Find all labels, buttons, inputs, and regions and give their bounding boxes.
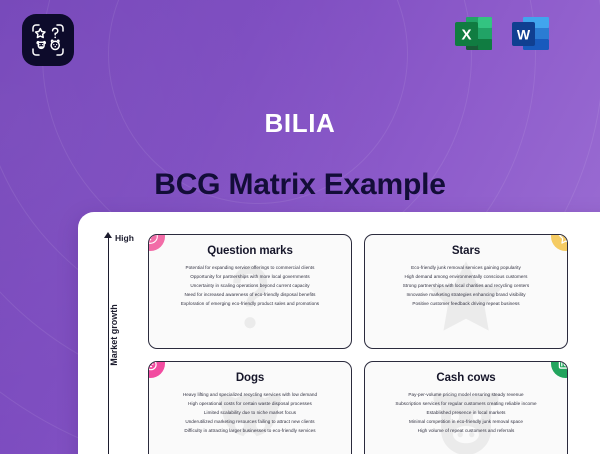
quadrant-bullets: Pay-per-volume pricing model ensuring st… [373,391,559,436]
quadrant-title: Question marks [157,245,343,257]
bullet-item: Exploration of emerging eco-friendly pro… [157,300,343,309]
quadrant-card-cash-cows[interactable]: Cash cows Pay-per-volume pricing model e… [364,361,568,454]
svg-text:W: W [517,27,531,43]
logo-icon [28,20,68,60]
bullet-item: Difficulty in attracting larger business… [157,427,343,436]
excel-glyph: X [452,12,496,56]
quadrant-title: Dogs [157,372,343,384]
quadrant-card-dogs[interactable]: Dogs Heavy lifting and specialized recyc… [148,361,352,454]
bullet-item: Strong partnerships with local charities… [373,282,559,291]
svg-text:X: X [461,27,471,44]
axis-vertical-label: Market growth [109,299,119,371]
bullet-item: Established presence in local markets [373,409,559,418]
bullet-item: Need for increased awareness of eco-frie… [157,291,343,300]
bcg-matrix-logo[interactable] [22,14,74,66]
quadrant-title: Cash cows [373,372,559,384]
bullet-item: Limited scalability due to niche market … [157,409,343,418]
bullet-item: Opportunity for partnerships with more l… [157,273,343,282]
bullet-item: Minimal competition in eco-friendly junk… [373,418,559,427]
quadrant-bullets: Potential for expanding service offering… [157,264,343,309]
brand-title: BILIA [0,108,600,139]
quadrant-card-stars[interactable]: Stars Eco-friendly junk removal services… [364,234,568,349]
word-glyph: W [509,12,553,56]
quadrant-title: Stars [373,245,559,257]
excel-icon[interactable]: X [452,12,496,56]
bullet-item: Pay-per-volume pricing model ensuring st… [373,391,559,400]
bullet-item: Subscription services for regular custom… [373,400,559,409]
bullet-item: Uncertainty in scaling operations beyond… [157,282,343,291]
bullet-item: High operational costs for certain waste… [157,400,343,409]
bullet-item: Heavy lifting and specialized recycling … [157,391,343,400]
quadrant-bullets: Heavy lifting and specialized recycling … [157,391,343,436]
quadrant-card-question-marks[interactable]: Question marks Potential for expanding s… [148,234,352,349]
poster-canvas: X W BILIA BCG Matrix Example High Market… [0,0,600,454]
word-icon[interactable]: W [509,12,553,56]
bullet-item: Eco-friendly junk removal services gaini… [373,264,559,273]
star-icon [557,234,569,246]
bullet-item: High demand among environmentally consci… [373,273,559,282]
bullet-item: Innovative marketing strategies enhancin… [373,291,559,300]
bullet-item: High volume of repeat customers and refe… [373,427,559,436]
quadrant-bullets: Eco-friendly junk removal services gaini… [373,264,559,309]
bullet-item: Potential for expanding service offering… [157,264,343,273]
quadrant-grid: Question marks Potential for expanding s… [148,234,568,454]
question-mark-icon [148,234,159,245]
page-title: BCG Matrix Example [0,168,600,202]
money-icon [557,361,569,373]
market-growth-axis: High Market growth [102,234,142,454]
dog-icon [148,361,160,373]
bullet-item: Positive customer feedback driving repea… [373,300,559,309]
bullet-item: Underutilized marketing resources failin… [157,418,343,427]
axis-high-label: High [115,233,134,243]
matrix-panel: High Market growth Question marks [78,212,600,454]
